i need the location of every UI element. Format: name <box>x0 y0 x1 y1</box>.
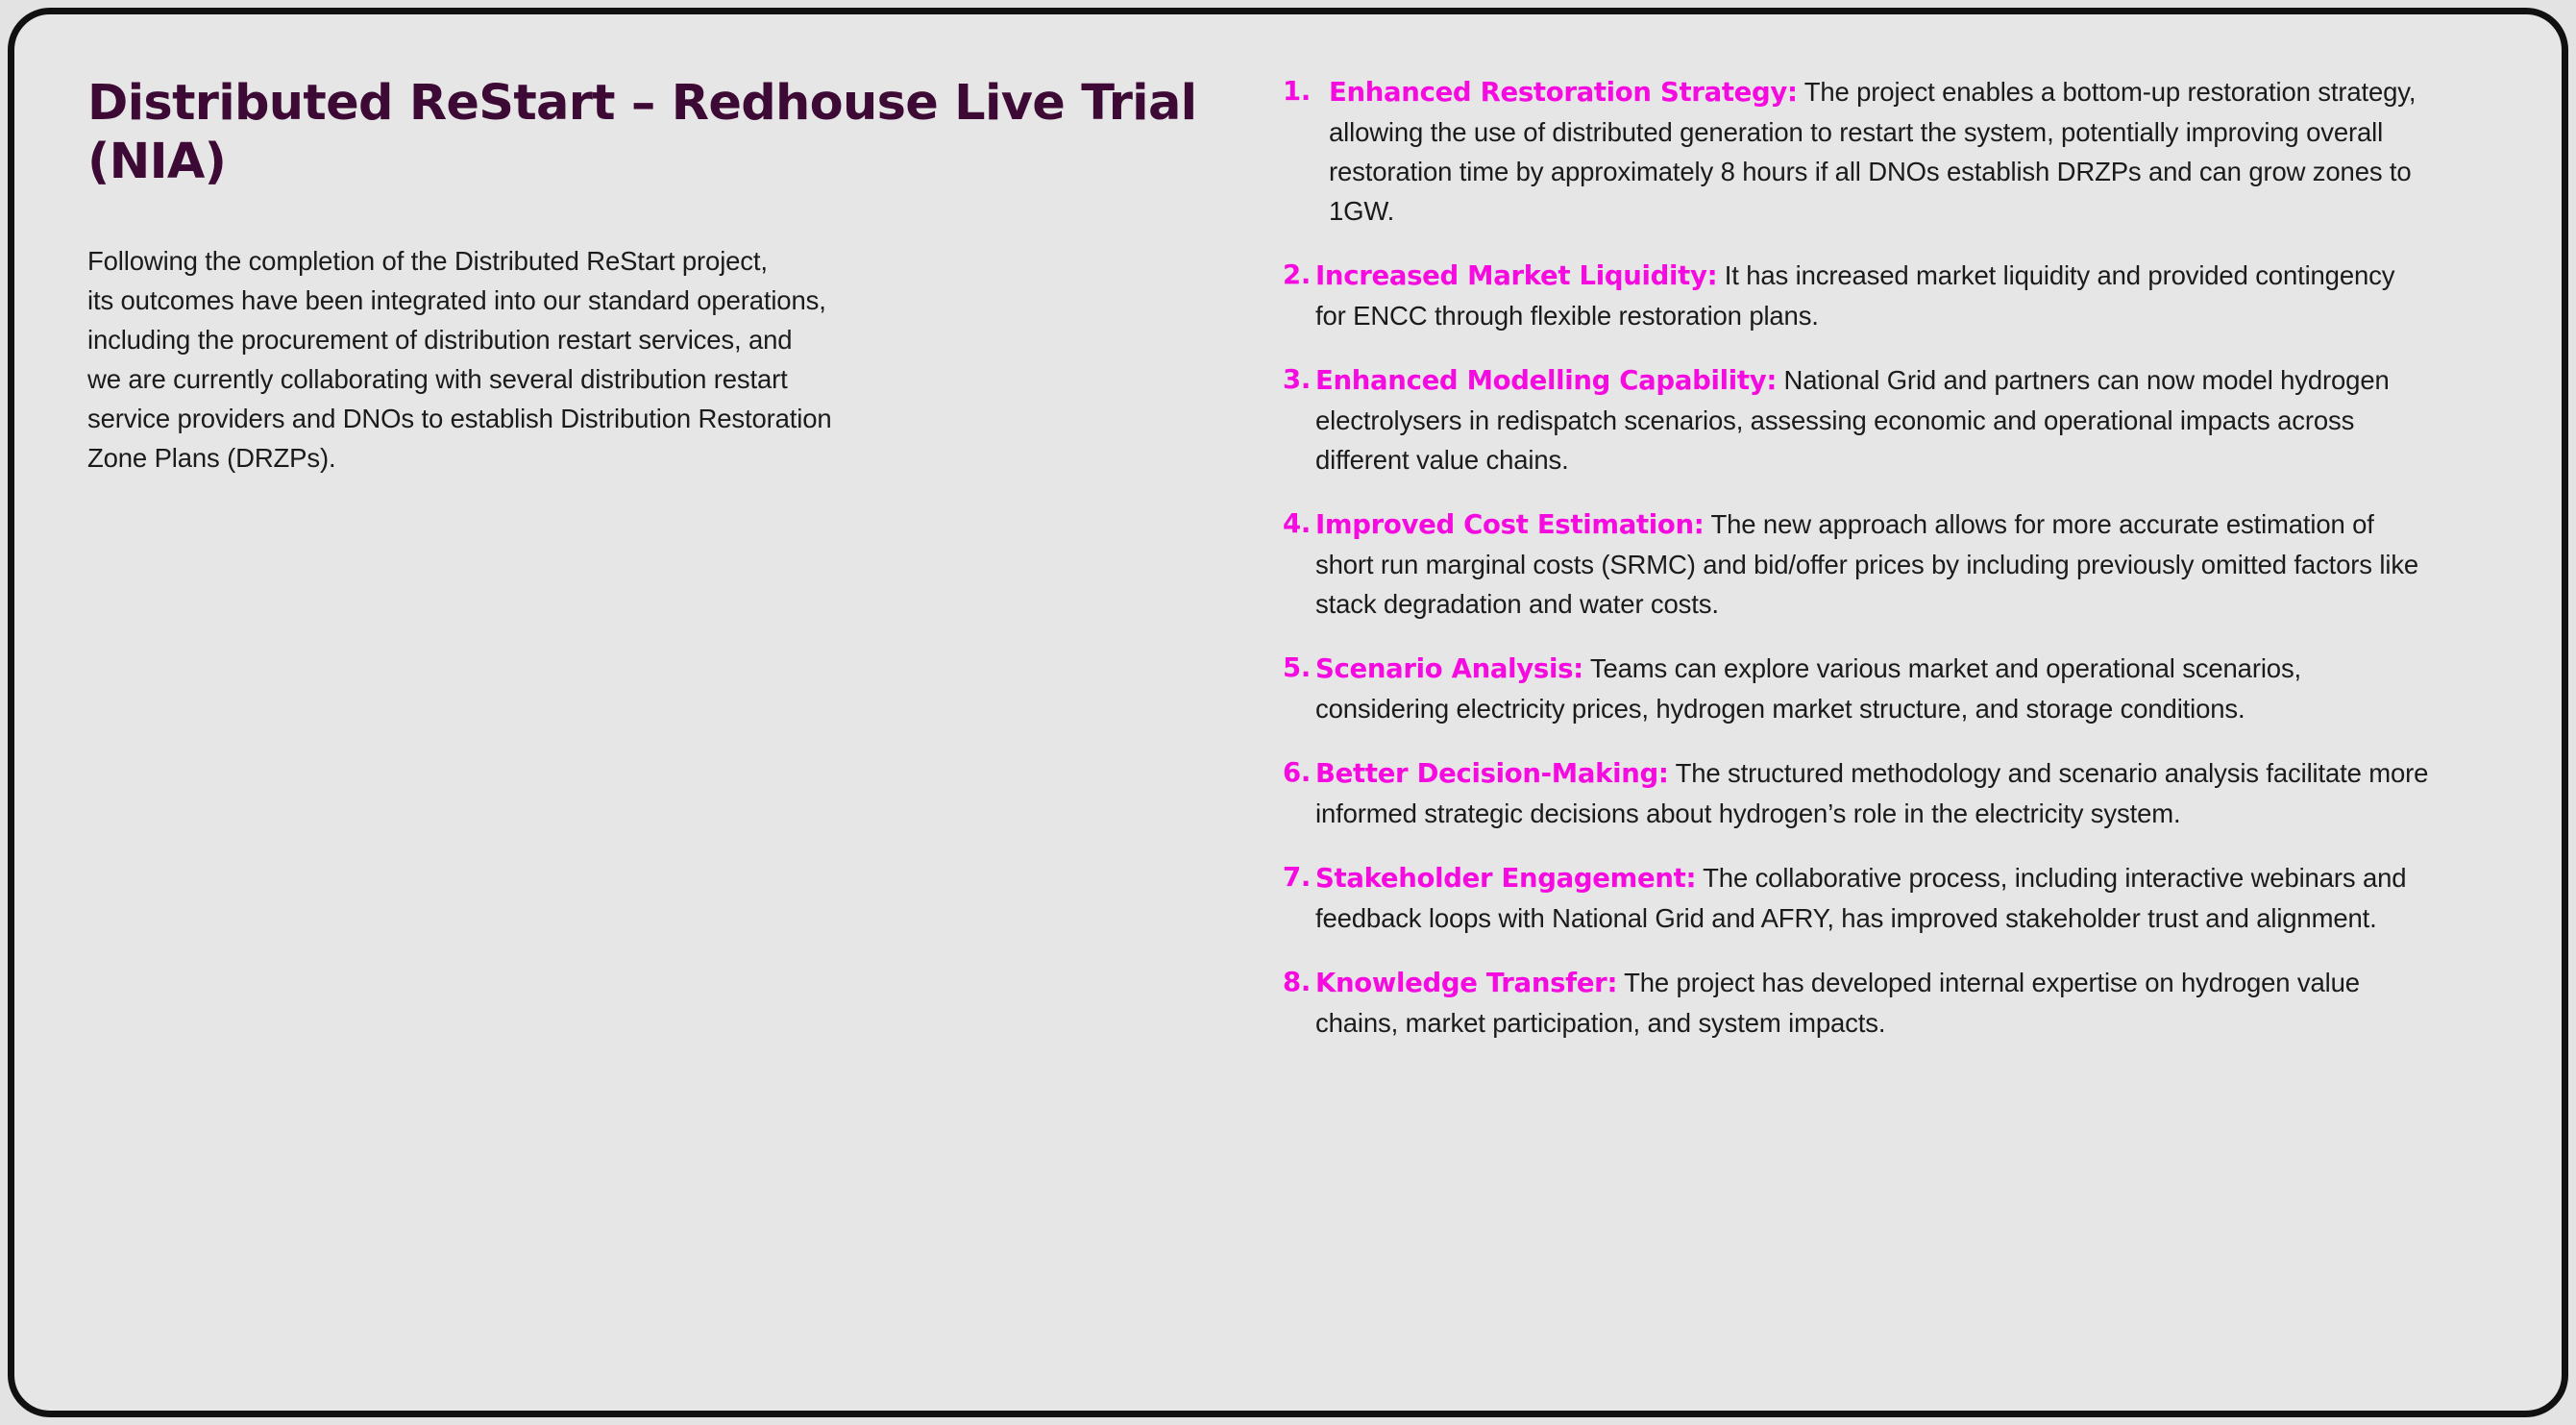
outcome-number: 4. <box>1283 504 1315 544</box>
outcome-body: Better Decision-Making: The structured m… <box>1315 753 2430 833</box>
outcome-body: Enhanced Restoration Strategy: The proje… <box>1329 72 2443 231</box>
outcome-item: 6.Better Decision-Making: The structured… <box>1283 753 2494 833</box>
outcome-number: 3. <box>1283 360 1315 400</box>
outcome-item: 2.Increased Market Liquidity: It has inc… <box>1283 256 2494 335</box>
outcome-number: 8. <box>1283 963 1315 1002</box>
outcome-heading: Knowledge Transfer: <box>1315 968 1617 998</box>
outcome-heading: Enhanced Modelling Capability: <box>1315 365 1777 396</box>
outcome-number: 1. <box>1283 72 1329 111</box>
outcome-body: Knowledge Transfer: The project has deve… <box>1315 963 2430 1043</box>
outcome-item: 1.Enhanced Restoration Strategy: The pro… <box>1283 72 2494 231</box>
page-title: Distributed ReStart – Redhouse Live Tria… <box>87 74 1202 191</box>
outcome-number: 6. <box>1283 753 1315 793</box>
slide-card: Distributed ReStart – Redhouse Live Tria… <box>8 8 2568 1417</box>
outcome-item: 8.Knowledge Transfer: The project has de… <box>1283 963 2494 1043</box>
outcome-body: Stakeholder Engagement: The collaborativ… <box>1315 858 2430 938</box>
outcome-heading: Enhanced Restoration Strategy: <box>1329 77 1798 108</box>
outcome-heading: Increased Market Liquidity: <box>1315 260 1717 291</box>
outcome-body: Scenario Analysis: Teams can explore var… <box>1315 649 2430 728</box>
outcome-heading: Better Decision-Making: <box>1315 758 1669 789</box>
outcome-item: 4.Improved Cost Estimation: The new appr… <box>1283 504 2494 624</box>
outcome-body: Enhanced Modelling Capability: National … <box>1315 360 2430 479</box>
outcome-number: 5. <box>1283 649 1315 688</box>
outcome-number: 2. <box>1283 256 1315 295</box>
left-column: Distributed ReStart – Redhouse Live Tria… <box>14 14 1263 1411</box>
outcome-heading: Improved Cost Estimation: <box>1315 509 1705 540</box>
outcome-body: Improved Cost Estimation: The new approa… <box>1315 504 2430 624</box>
outcome-number: 7. <box>1283 858 1315 897</box>
right-column: 1.Enhanced Restoration Strategy: The pro… <box>1263 14 2562 1411</box>
intro-paragraph: Following the completion of the Distribu… <box>87 241 1154 478</box>
slide-content: Distributed ReStart – Redhouse Live Tria… <box>14 14 2562 1411</box>
outcome-body: Increased Market Liquidity: It has incre… <box>1315 256 2430 335</box>
outcome-heading: Scenario Analysis: <box>1315 653 1583 684</box>
outcome-item: 3.Enhanced Modelling Capability: Nationa… <box>1283 360 2494 479</box>
outcome-item: 7.Stakeholder Engagement: The collaborat… <box>1283 858 2494 938</box>
outcome-item: 5.Scenario Analysis: Teams can explore v… <box>1283 649 2494 728</box>
outcome-heading: Stakeholder Engagement: <box>1315 863 1696 894</box>
outcomes-list: 1.Enhanced Restoration Strategy: The pro… <box>1283 72 2494 1043</box>
